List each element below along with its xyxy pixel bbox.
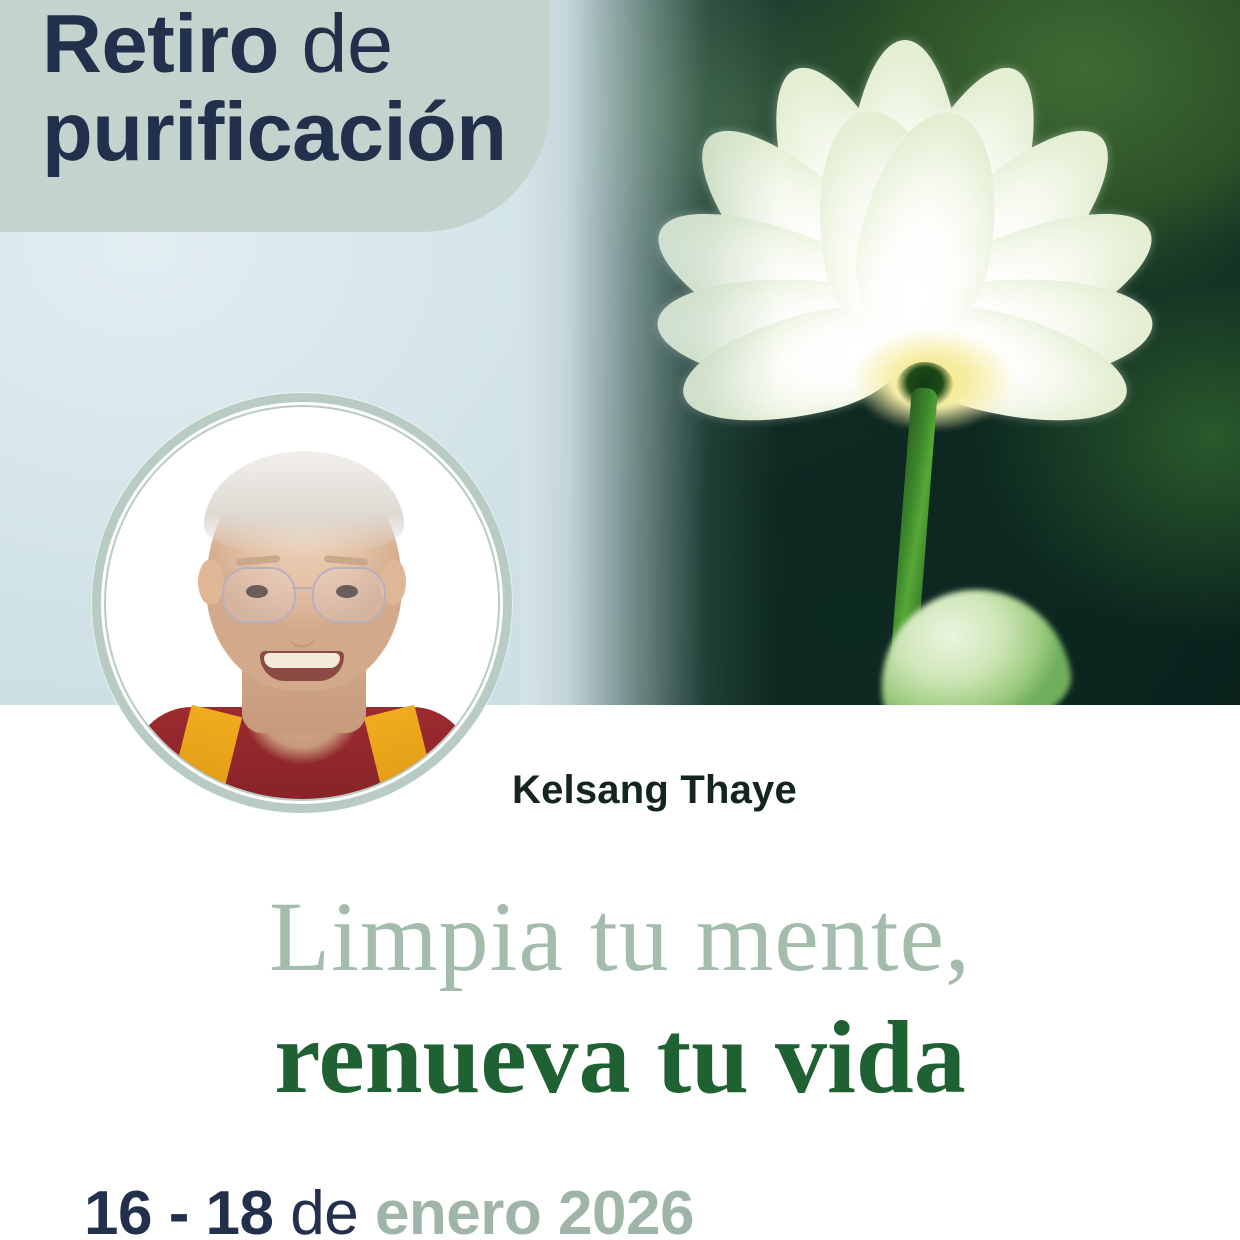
teeth bbox=[264, 653, 340, 668]
mouth bbox=[260, 651, 344, 681]
title-line1-light: de bbox=[279, 0, 393, 90]
title-chip: Retiro de purificación bbox=[0, 0, 550, 232]
glasses-bridge bbox=[292, 587, 312, 589]
hero-photo-fade bbox=[520, 0, 780, 705]
nose bbox=[288, 603, 316, 648]
tagline-line1: Limpia tu mente, bbox=[0, 884, 1240, 989]
event-date: 16 - 18 de enero 2026 bbox=[84, 1178, 694, 1240]
portrait-photo bbox=[106, 407, 498, 799]
glasses-lens-right bbox=[312, 567, 386, 623]
title-line2-strong: purificación bbox=[42, 85, 506, 178]
page-title: Retiro de purificación bbox=[42, 0, 512, 176]
tagline: Limpia tu mente, renueva tu vida bbox=[0, 884, 1240, 1112]
ear-left bbox=[198, 559, 224, 605]
date-month-year: enero 2026 bbox=[375, 1179, 694, 1240]
tagline-line2: renueva tu vida bbox=[0, 1003, 1240, 1112]
title-line1-strong: Retiro bbox=[42, 0, 279, 90]
event-poster: Retiro de purificación bbox=[0, 0, 1240, 1240]
date-connector: de bbox=[274, 1179, 375, 1240]
date-range: 16 - 18 bbox=[84, 1179, 274, 1240]
face-hair bbox=[204, 451, 404, 555]
speaker-portrait bbox=[92, 393, 512, 813]
speaker-name: Kelsang Thaye bbox=[512, 768, 797, 813]
glasses-lens-left bbox=[222, 567, 296, 623]
